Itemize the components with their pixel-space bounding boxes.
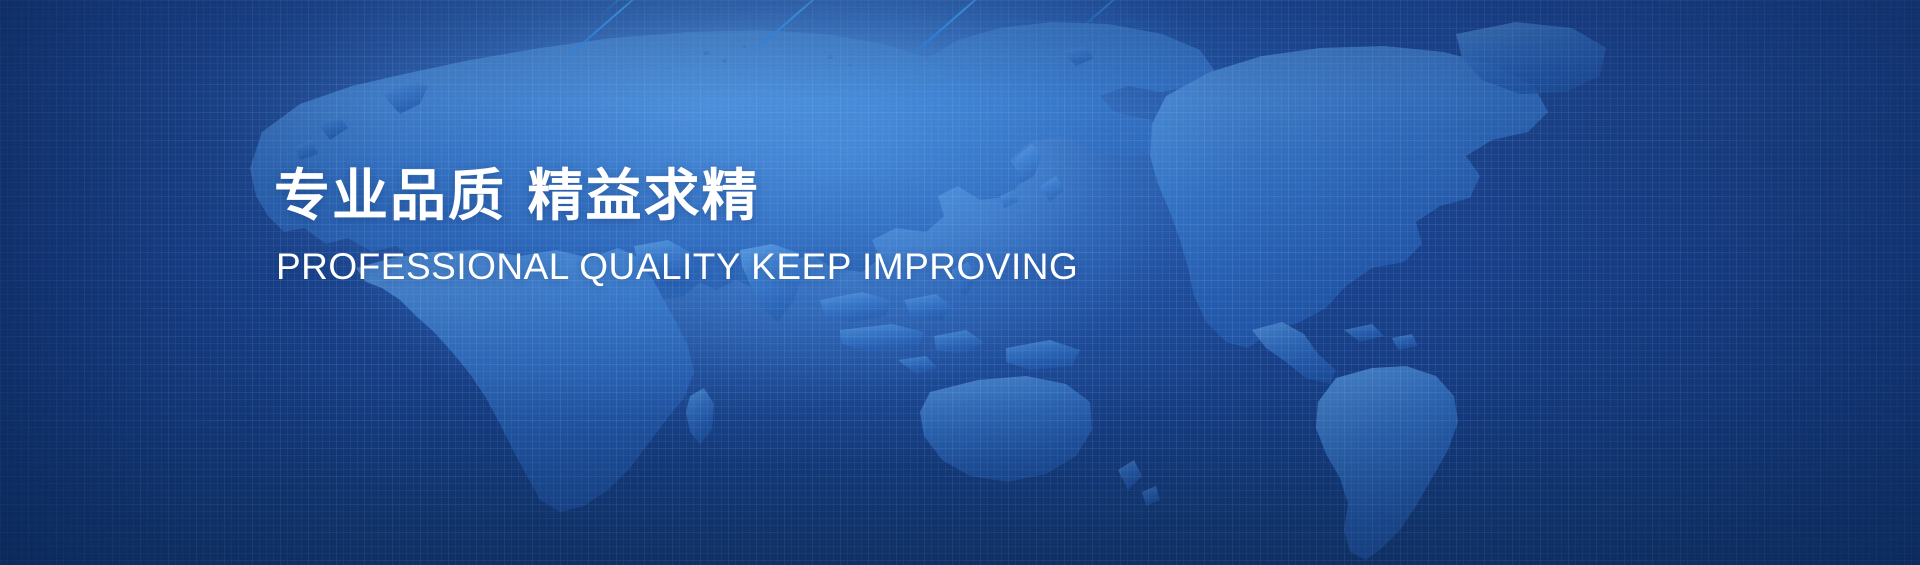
banner-headline-chinese: 专业品质 精益求精: [274, 164, 1078, 230]
hero-banner: 专业品质 精益求精 PROFESSIONAL QUALITY KEEP IMPR…: [0, 0, 1920, 565]
banner-headline-block: 专业品质 精益求精 PROFESSIONAL QUALITY KEEP IMPR…: [274, 164, 1078, 288]
banner-subheadline-english: PROFESSIONAL QUALITY KEEP IMPROVING: [276, 246, 1078, 288]
